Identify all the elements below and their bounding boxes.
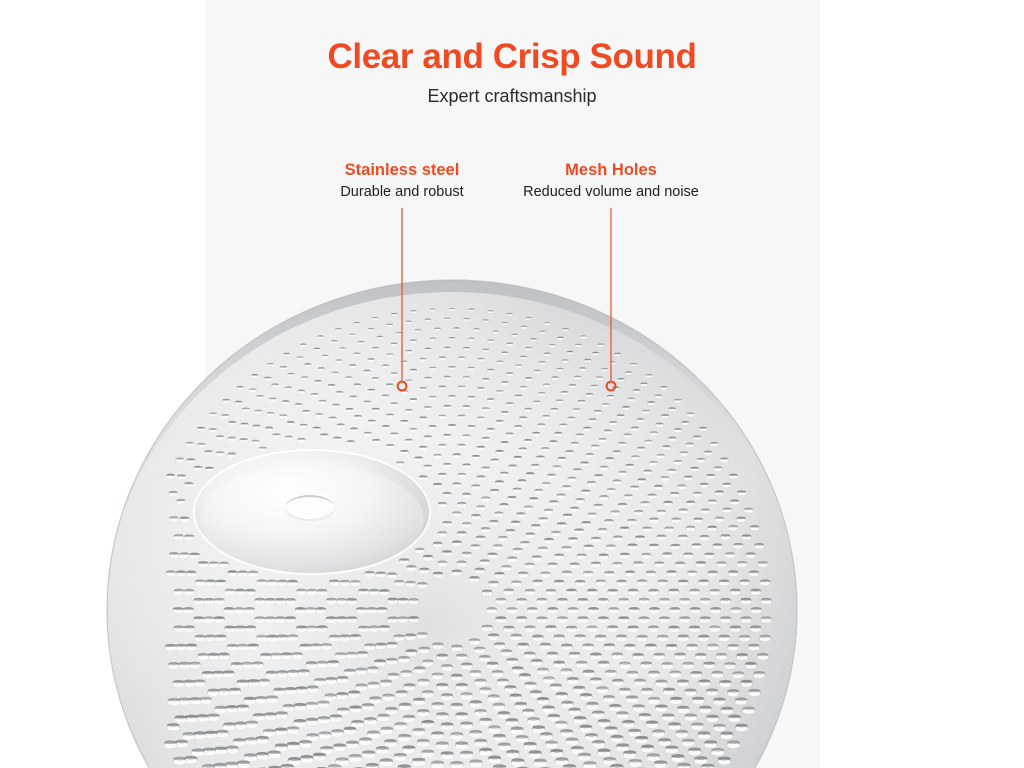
leader-marker-2 [607, 382, 616, 391]
callout-leader-lines [0, 0, 1024, 768]
marketing-image-canvas: Clear and Crisp Sound Expert craftsmansh… [0, 0, 1024, 768]
leader-marker-1 [398, 382, 407, 391]
